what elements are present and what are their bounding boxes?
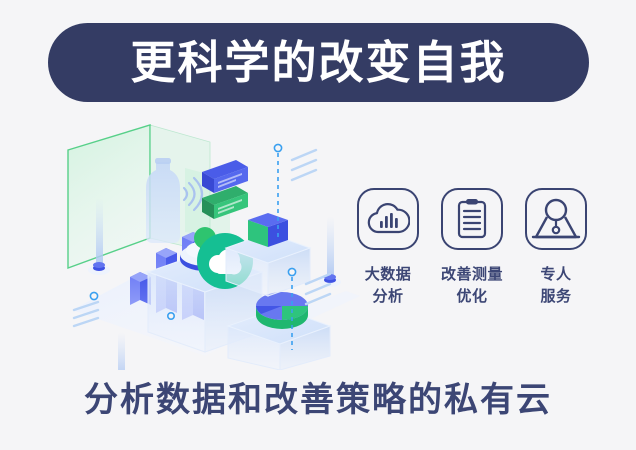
feature-item-measurement[interactable]: 改善测量 优化 xyxy=(436,188,508,308)
illustration-isometric-data-cloud xyxy=(30,120,360,370)
clipboard-icon-frame xyxy=(441,188,503,250)
feature-item-big-data[interactable]: 大数据 分析 xyxy=(352,188,424,308)
feature-label-line2: 服务 xyxy=(540,286,571,308)
feature-label-line2: 优化 xyxy=(441,286,503,308)
feature-label-big-data: 大数据 分析 xyxy=(365,264,412,308)
pie-chart-3d xyxy=(256,292,308,329)
support-person-icon xyxy=(531,197,581,241)
promo-banner: 更科学的改变自我 xyxy=(0,0,636,450)
speed-lines-upper xyxy=(292,150,316,180)
feature-label-measurement: 改善测量 优化 xyxy=(441,264,503,308)
light-beam-floor xyxy=(110,332,132,370)
cloud-bar-chart-icon xyxy=(366,199,410,239)
page-title: 更科学的改变自我 xyxy=(130,40,506,85)
feature-label-line1: 改善测量 xyxy=(441,264,503,286)
feature-label-line1: 专人 xyxy=(540,264,571,286)
cloud-bar-chart-icon-frame xyxy=(357,188,419,250)
feature-list: 大数据 分析 改善测量 优化 xyxy=(352,188,592,333)
feature-item-service[interactable]: 专人 服务 xyxy=(520,188,592,308)
small-data-cube xyxy=(248,213,288,247)
support-person-icon-frame xyxy=(525,188,587,250)
clipboard-icon xyxy=(455,198,489,240)
feature-label-service: 专人 服务 xyxy=(540,264,571,308)
feature-label-line1: 大数据 xyxy=(365,264,412,286)
title-banner-pill: 更科学的改变自我 xyxy=(48,23,589,102)
node-circle-left xyxy=(90,292,97,299)
feature-label-line2: 分析 xyxy=(365,286,412,308)
tagline-text: 分析数据和改善策略的私有云 xyxy=(0,380,636,421)
node-circle-bottom xyxy=(168,313,174,319)
